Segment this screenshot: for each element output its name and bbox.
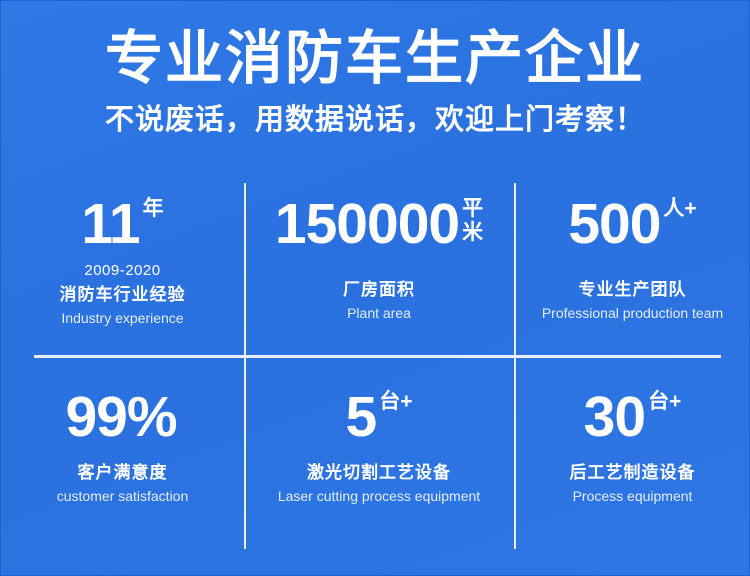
- stat-unit-top: 平: [462, 197, 483, 221]
- stat-number: 500: [568, 195, 660, 253]
- stat-unit: 年: [143, 198, 164, 220]
- stat-number-row: 11 年: [81, 195, 163, 253]
- stat-label-cn: 客户满意度: [78, 462, 168, 484]
- page-subtitle: 不说废话，用数据说话，欢迎上门考察！: [1, 103, 749, 137]
- stat-number: 150000: [275, 195, 459, 253]
- banner-header: 专业消防车生产企业 不说废话，用数据说话，欢迎上门考察！: [1, 27, 749, 137]
- grid-divider-vertical-right: [514, 183, 516, 549]
- stat-unit-stacked: 平 米: [462, 197, 483, 245]
- promo-banner: 专业消防车生产企业 不说废话，用数据说话，欢迎上门考察！ 11 年 2009-2…: [0, 0, 750, 576]
- grid-divider-horizontal: [34, 355, 721, 358]
- stat-cell-plant-area: 150000 平 米 厂房面积 Plant area: [244, 179, 514, 356]
- stat-unit: 台+: [379, 391, 412, 413]
- stat-unit: 台+: [648, 391, 681, 413]
- stat-label-en: Plant area: [347, 304, 411, 322]
- stat-label-cn: 后工艺制造设备: [570, 462, 696, 484]
- stats-grid: 11 年 2009-2020 消防车行业经验 Industry experien…: [1, 179, 750, 555]
- stat-number-row: 500 人+: [568, 195, 696, 253]
- stat-number-row: 150000 平 米: [275, 195, 483, 253]
- stat-label-cn: 激光切割工艺设备: [307, 462, 451, 484]
- stat-label-en: Professional production team: [542, 304, 723, 322]
- stat-unit: 人+: [663, 198, 696, 220]
- stat-label-en: Laser cutting process equipment: [278, 487, 480, 505]
- stat-label-cn: 消防车行业经验: [60, 284, 186, 306]
- stat-number-row: 99%: [65, 388, 179, 446]
- stat-label-en: customer satisfaction: [57, 487, 189, 505]
- stat-cell-customer-satisfaction: 99% 客户满意度 customer satisfaction: [1, 356, 244, 555]
- stat-number: 5: [346, 388, 377, 446]
- stat-label-cn: 专业生产团队: [579, 279, 687, 301]
- stat-cell-laser-cutting: 5 台+ 激光切割工艺设备 Laser cutting process equi…: [244, 356, 514, 555]
- stat-unit-bottom: 米: [462, 221, 483, 245]
- page-title: 专业消防车生产企业: [1, 27, 749, 91]
- stat-cell-industry-experience: 11 年 2009-2020 消防车行业经验 Industry experien…: [1, 179, 244, 356]
- stat-year-range: 2009-2020: [84, 262, 160, 280]
- stat-number: 30: [584, 388, 645, 446]
- stat-label-en: Industry experience: [61, 309, 183, 327]
- grid-divider-vertical-left: [244, 183, 246, 549]
- stat-number-row: 5 台+: [346, 388, 413, 446]
- stat-number-row: 30 台+: [584, 388, 682, 446]
- stat-number: 11: [81, 195, 139, 253]
- stat-cell-process-equipment: 30 台+ 后工艺制造设备 Process equipment: [514, 356, 750, 555]
- stat-cell-production-team: 500 人+ 专业生产团队 Professional production te…: [514, 179, 750, 356]
- stat-label-en: Process equipment: [573, 487, 693, 505]
- stat-label-cn: 厂房面积: [343, 279, 415, 301]
- stat-number: 99%: [65, 388, 176, 446]
